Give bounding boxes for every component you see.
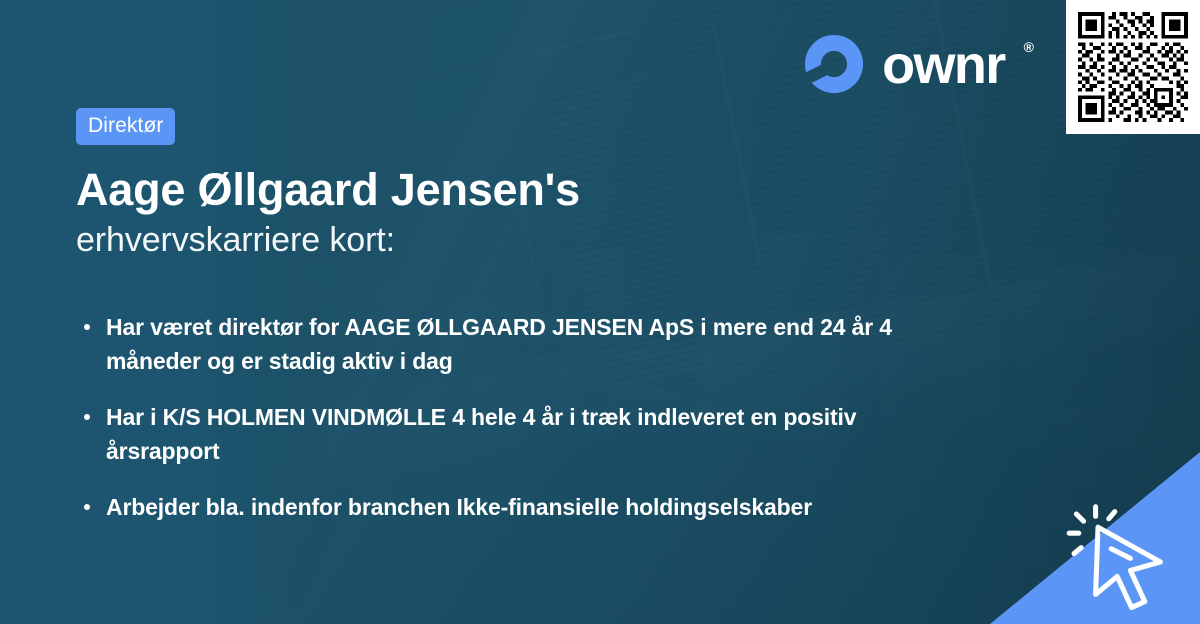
bullet-dot-icon	[84, 414, 90, 420]
list-item: Arbejder bla. indenfor branchen Ikke-fin…	[80, 490, 951, 524]
role-badge: Direktør	[76, 108, 175, 145]
headline-block: Direktør Aage Øllgaard Jensen's erhvervs…	[76, 108, 976, 260]
list-item: Har været direktør for AAGE ØLLGAARD JEN…	[80, 310, 951, 378]
registered-trademark-icon: ®	[1024, 39, 1034, 55]
page-title: Aage Øllgaard Jensen's	[76, 166, 976, 214]
qr-code-panel[interactable]	[1066, 0, 1200, 134]
page-subtitle: erhvervskarriere kort:	[76, 220, 976, 260]
list-item-text: Har i K/S HOLMEN VINDMØLLE 4 hele 4 år i…	[106, 404, 856, 464]
career-highlights-list: Har været direktør for AAGE ØLLGAARD JEN…	[80, 310, 980, 524]
qr-code-icon	[1078, 12, 1188, 122]
promo-card: ownr ®	[0, 0, 1200, 624]
list-item: Har i K/S HOLMEN VINDMØLLE 4 hele 4 år i…	[80, 400, 951, 468]
brand-logo[interactable]: ownr ®	[803, 33, 1032, 95]
ownr-swirl-logo-icon	[803, 33, 865, 95]
bullet-dot-icon	[84, 324, 90, 330]
brand-wordmark: ownr	[882, 38, 1005, 92]
list-item-text: Har været direktør for AAGE ØLLGAARD JEN…	[106, 314, 892, 374]
list-item-text: Arbejder bla. indenfor branchen Ikke-fin…	[106, 494, 812, 520]
bullet-dot-icon	[84, 504, 90, 510]
